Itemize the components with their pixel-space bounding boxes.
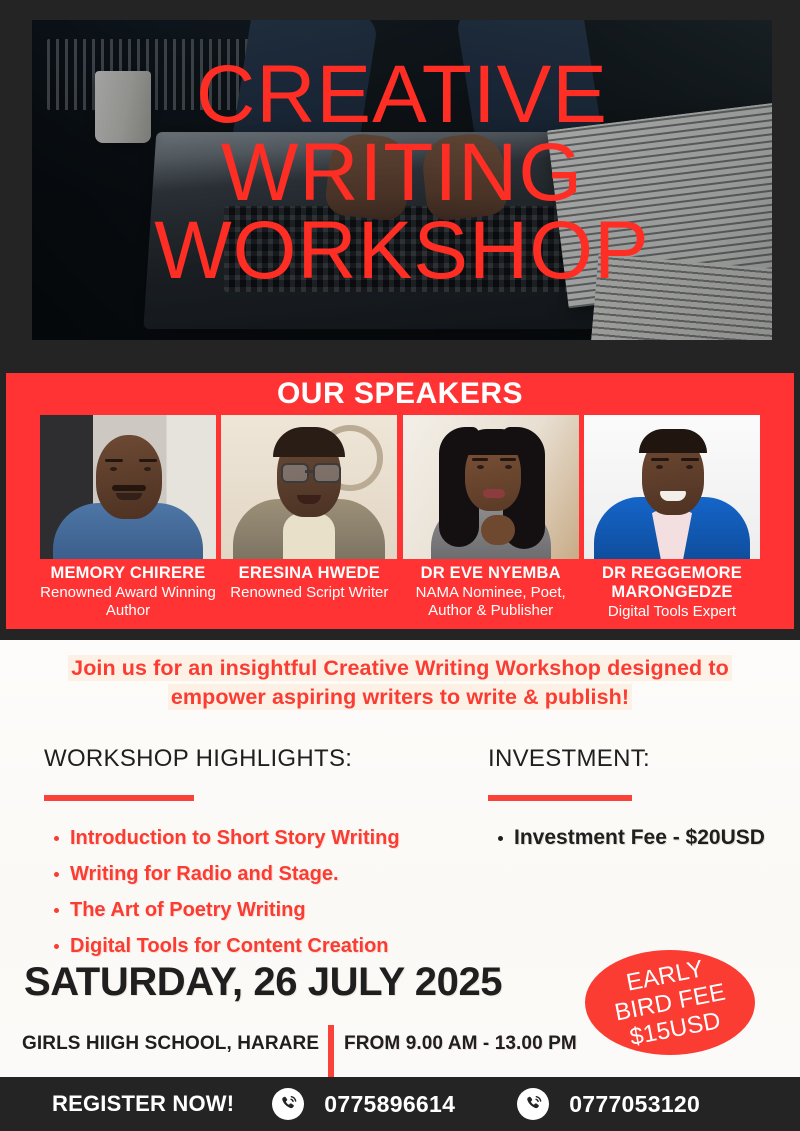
speaker-role: Digital Tools Expert (584, 603, 760, 621)
speaker-card: MEMORY CHIRERE Renowned Award Winning Au… (40, 415, 216, 621)
register-label: REGISTER NOW! (52, 1091, 234, 1117)
investment-heading: INVESTMENT: (488, 745, 788, 773)
speaker-name: MEMORY CHIRERE (40, 564, 216, 583)
speaker-card: ERESINA HWEDE Renowned Script Writer (221, 415, 397, 621)
speaker-name: DR REGGEMORE MARONGEDZE (584, 564, 760, 602)
investment-list: Investment Fee - $20USD (488, 823, 788, 853)
list-item: Introduction to Short Story Writing (44, 823, 464, 853)
phone-icon (517, 1088, 549, 1120)
list-item: Investment Fee - $20USD (488, 823, 788, 853)
contact-2[interactable]: 0777053120 (517, 1088, 700, 1120)
tagline: Join us for an insightful Creative Writi… (50, 654, 750, 712)
speakers-row: MEMORY CHIRERE Renowned Award Winning Au… (6, 415, 794, 621)
phone-number-1[interactable]: 0775896614 (324, 1091, 455, 1118)
list-item: The Art of Poetry Writing (44, 895, 464, 925)
investment-underline (488, 795, 632, 801)
highlights-heading: WORKSHOP HIGHLIGHTS: (44, 745, 464, 773)
speaker-card: DR REGGEMORE MARONGEDZE Digital Tools Ex… (584, 415, 760, 621)
phone-number-2[interactable]: 0777053120 (569, 1091, 700, 1118)
highlights-column: WORKSHOP HIGHLIGHTS: Introduction to Sho… (44, 745, 464, 967)
hero-banner: CREATIVE WRITING WORKSHOP (32, 20, 772, 340)
speaker-photo (221, 415, 397, 559)
speaker-name: ERESINA HWEDE (221, 564, 397, 583)
event-time: FROM 9.00 AM - 13.00 PM (344, 1033, 577, 1055)
speaker-name: DR EVE NYEMBA (403, 564, 579, 583)
event-venue: GIRLS HIIGH SCHOOL, HARARE (22, 1033, 319, 1055)
early-bird-badge: EARLY BIRD FEE $15USD (585, 950, 755, 1055)
phone-icon (272, 1088, 304, 1120)
speaker-role: Renowned Award Winning Author (40, 584, 216, 620)
poster-title: CREATIVE WRITING WORKSHOP (32, 56, 772, 290)
speaker-photo (584, 415, 760, 559)
vertical-divider (328, 1025, 334, 1081)
tagline-text: Join us for an insightful Creative Writi… (68, 655, 732, 710)
investment-column: INVESTMENT: Investment Fee - $20USD (488, 745, 788, 859)
list-item: Writing for Radio and Stage. (44, 859, 464, 889)
speakers-heading: OUR SPEAKERS (6, 373, 794, 411)
list-item: Digital Tools for Content Creation (44, 931, 464, 961)
speaker-role: Renowned Script Writer (221, 584, 397, 602)
contact-1[interactable]: 0775896614 (272, 1088, 455, 1120)
speaker-role: NAMA Nominee, Poet, Author & Publisher (403, 584, 579, 620)
early-bird-text: EARLY BIRD FEE $15USD (607, 952, 733, 1053)
highlights-underline (44, 795, 194, 801)
poster-root: CREATIVE WRITING WORKSHOP OUR SPEAKERS (0, 0, 800, 1131)
speakers-band: OUR SPEAKERS MEMORY CH (6, 373, 794, 629)
speaker-photo (403, 415, 579, 559)
speaker-card: DR EVE NYEMBA NAMA Nominee, Poet, Author… (403, 415, 579, 621)
speaker-photo (40, 415, 216, 559)
event-date: SATURDAY, 26 JULY 2025 (24, 960, 502, 1005)
footer-bar: REGISTER NOW! 0775896614 0777053120 (0, 1077, 800, 1131)
highlights-list: Introduction to Short Story Writing Writ… (44, 823, 464, 961)
